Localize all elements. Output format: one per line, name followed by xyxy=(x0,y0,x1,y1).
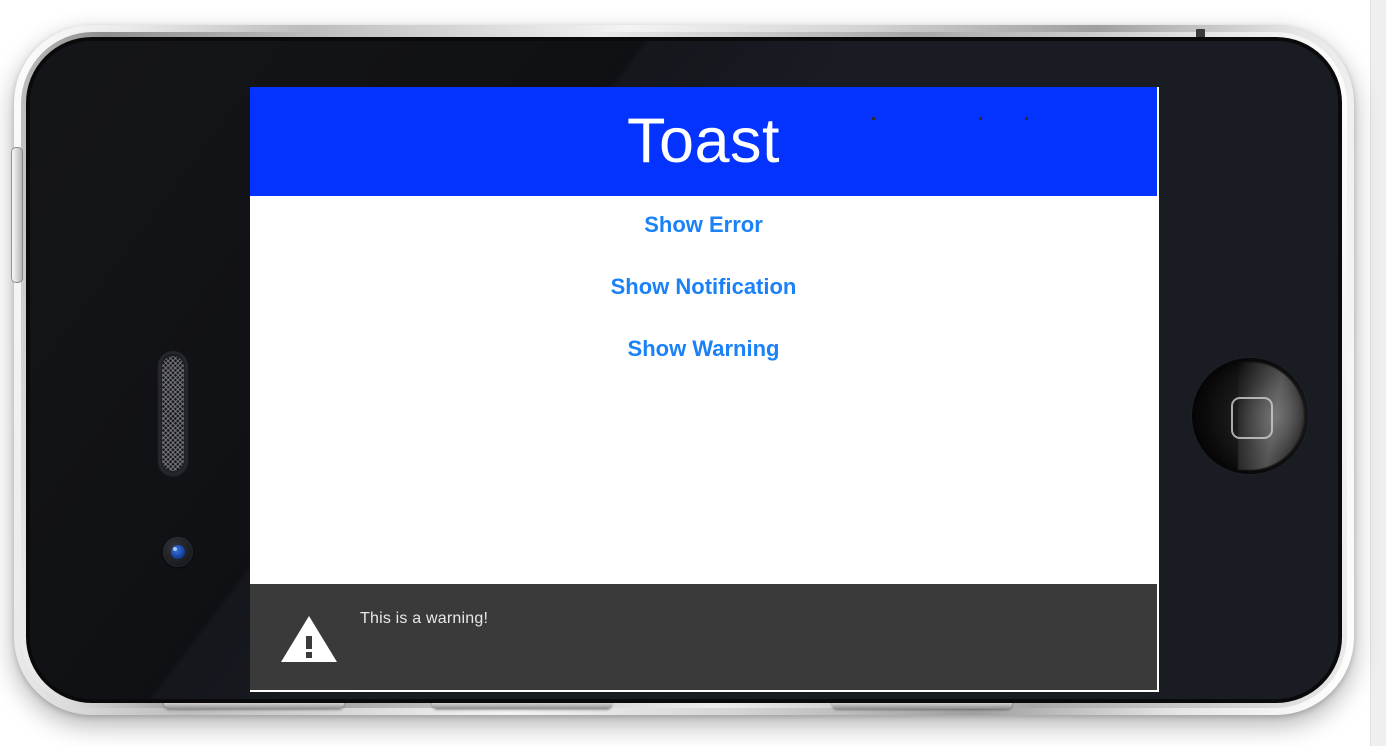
toast-notification[interactable]: This is a warning! xyxy=(250,584,1157,690)
app-viewport: Toast Show Error Show Notification Show … xyxy=(250,87,1159,692)
home-button[interactable] xyxy=(1192,358,1308,474)
screenshot-canvas: Toast Show Error Show Notification Show … xyxy=(0,0,1386,746)
device-body: Toast Show Error Show Notification Show … xyxy=(26,37,1342,703)
warning-triangle-icon xyxy=(280,614,338,664)
show-notification-button[interactable]: Show Notification xyxy=(250,274,1157,300)
front-camera-icon xyxy=(163,537,193,567)
front-camera-glint xyxy=(173,547,177,551)
speaker-grille-icon xyxy=(158,351,188,476)
app-header: Toast xyxy=(250,87,1157,196)
render-artifact-speck xyxy=(979,117,982,120)
volume-button-icon[interactable] xyxy=(11,147,23,283)
rounded-square-icon xyxy=(1231,397,1273,439)
render-artifact-speck xyxy=(1025,117,1028,120)
toast-message: This is a warning! xyxy=(360,610,488,628)
render-artifact-speck xyxy=(872,117,875,120)
show-warning-button[interactable]: Show Warning xyxy=(250,336,1157,362)
phone-device: Toast Show Error Show Notification Show … xyxy=(14,25,1354,715)
page-gutter xyxy=(1370,0,1386,746)
show-error-button[interactable]: Show Error xyxy=(250,212,1157,238)
speaker-grille-mesh xyxy=(162,356,184,471)
device-glass: Toast Show Error Show Notification Show … xyxy=(30,41,1338,699)
app-content: Show Error Show Notification Show Warnin… xyxy=(250,196,1157,582)
page-title: Toast xyxy=(627,110,780,173)
